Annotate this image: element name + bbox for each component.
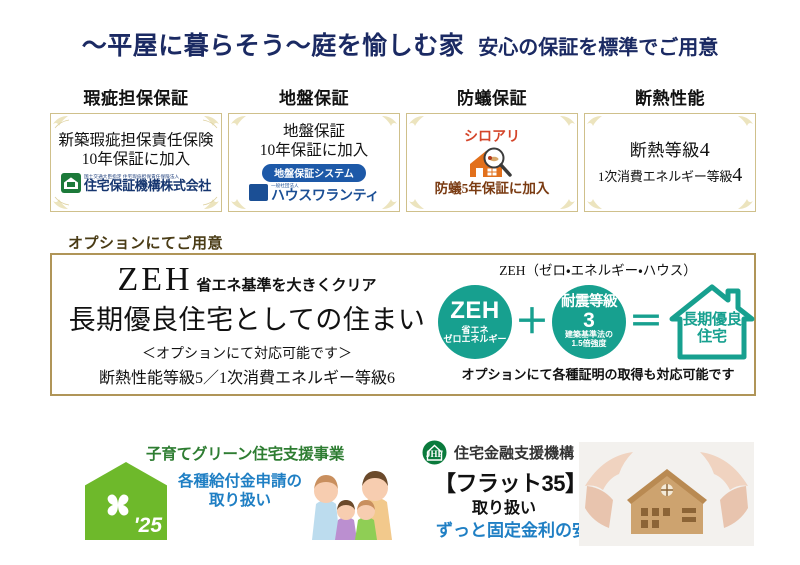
warranty-line-1: 新築瑕疵担保責任保険 <box>58 132 213 151</box>
primary-energy-label: 1次消費エネルギー等級 <box>598 169 732 184</box>
flat35-block: JHF 住宅金融支援機構 【フラット35】 取り扱い ずっと固定金利の安心 <box>418 436 758 548</box>
flat35-sub1: 取り扱い <box>472 494 536 518</box>
zeh-equation: ZEH 省エネ ゼロエネルギー ＋ 耐震等級 3 建築基準法の 1.5倍強度 ＝… <box>442 281 754 363</box>
ornament-corner-icon <box>376 192 398 210</box>
logo-name: 住宅保証機構株式会社 <box>84 179 211 192</box>
equation-result-house: 長期優良 住宅 <box>666 281 758 363</box>
jhf-logo-icon: JHF <box>422 440 447 465</box>
warranty-heading: 瑕疵担保保証 <box>84 84 189 109</box>
zeh-circle-sub2: ゼロエネルギー <box>443 335 506 345</box>
clover-icon <box>101 488 135 522</box>
ornament-corner-icon <box>408 192 430 210</box>
ornament-corner-icon <box>586 192 608 210</box>
seismic-sub2: 1.5倍強度 <box>571 340 606 349</box>
title-main: 〜平屋に暮らそう〜庭を愉しむ家 <box>82 33 465 60</box>
zeh-grade-line: 断熱性能等級5／1次消費エネルギー等級6 <box>62 364 432 388</box>
equation-seismic-circle: 耐震等級 3 建築基準法の 1.5倍強度 <box>552 285 626 359</box>
green-sub-line1: 各種給付金申請の <box>178 472 302 491</box>
house-shield-icon <box>61 173 81 193</box>
ornament-corner-icon <box>52 192 74 210</box>
ornament-corner-icon <box>554 115 576 133</box>
ornament-corner-icon <box>198 192 220 210</box>
insulation-grade-value: 4 <box>700 139 711 161</box>
warranty-card-termite: 防蟻保証 シロアリ 防蟻5年保証に加入 <box>406 84 578 212</box>
zeh-wordmark: ZEH <box>117 261 192 299</box>
ground-warranty-system-pill: 地盤保証システム <box>262 164 366 182</box>
warranty-cards-row: 瑕疵担保保証 新築瑕疵担保責任保険 10年保証に加入 国土交通大臣指定 住宅瑕疵… <box>50 84 756 212</box>
seismic-grade-number: 3 <box>583 310 595 331</box>
warranty-heading: 断熱性能 <box>635 84 705 109</box>
warranty-line-1: 地盤保証 <box>283 123 345 142</box>
equation-zeh-circle: ZEH 省エネ ゼロエネルギー <box>438 285 512 359</box>
zeh-left-block: ZEH 省エネ基準を大きくクリア 長期優良住宅としての住まい ＜オプションにて対… <box>62 261 432 388</box>
option-label: オプションにてご用意 <box>68 232 223 253</box>
green-sub-line2: 取り扱い <box>178 491 302 510</box>
green-house-badge-icon: '25 <box>85 462 167 540</box>
seal-icon <box>249 184 268 201</box>
warranty-card-insulation: 断熱性能 断熱等級4 1次消費エネルギー等級4 <box>584 84 756 212</box>
warranty-heading: 地盤保証 <box>279 84 349 109</box>
warranty-line-2: 10年保証に加入 <box>82 151 191 170</box>
hands-protecting-house-icon <box>579 442 754 546</box>
ornament-corner-icon <box>230 115 252 133</box>
bottom-section: 子育てグリーン住宅支援事業 '25 各種給付金申請の 取り扱い <box>0 432 800 552</box>
warranty-line-1: シロアリ <box>464 128 520 145</box>
page-title: 〜平屋に暮らそう〜庭を愉しむ家 安心の保証を標準でご用意 <box>0 26 800 62</box>
ornament-corner-icon <box>52 115 74 133</box>
plus-operator-icon: ＋ <box>514 305 550 339</box>
svg-text:JHF: JHF <box>426 449 444 459</box>
logo-name: ハウスワランティ <box>271 188 379 202</box>
warranty-card-ground: 地盤保証 地盤保証 10年保証に加入 地盤保証システム 一般社団法人 ハウスワラ… <box>228 84 400 212</box>
equals-operator-icon: ＝ <box>628 305 664 339</box>
zeh-panel: ZEH 省エネ基準を大きくクリア 長期優良住宅としての住まい ＜オプションにて対… <box>50 253 756 396</box>
seismic-title: 耐震等級 <box>561 295 617 310</box>
result-house-line2: 住宅 <box>666 328 758 345</box>
zeh-equation-note: オプションにて各種証明の取得も対応可能です <box>442 364 754 383</box>
zeh-right-block: ZEH（ゼロ・エネルギー・ハウス） ZEH 省エネ ゼロエネルギー ＋ 耐震等級… <box>442 259 754 383</box>
ornament-corner-icon <box>732 115 754 133</box>
warranty-box: シロアリ 防蟻5年保証に加入 <box>406 113 578 212</box>
warranty-line-2: 10年保証に加入 <box>260 142 369 161</box>
year-badge: '25 <box>134 514 162 538</box>
zeh-caption: ZEH（ゼロ・エネルギー・ハウス） <box>442 259 754 279</box>
jhf-org-name: 住宅金融支援機構 <box>454 442 574 463</box>
warranty-box: 新築瑕疵担保責任保険 10年保証に加入 国土交通大臣指定 住宅瑕疵担保責任保険法… <box>50 113 222 212</box>
ornament-corner-icon <box>732 192 754 210</box>
warranty-box: 断熱等級4 1次消費エネルギー等級4 <box>584 113 756 212</box>
house-magnifier-termite-icon <box>464 146 520 180</box>
zeh-circle-main: ZEH <box>450 299 500 323</box>
result-house-line1: 長期優良 <box>666 311 758 328</box>
zeh-main-headline: 長期優良住宅としての住まい <box>62 298 432 337</box>
warranty-box: 地盤保証 10年保証に加入 地盤保証システム 一般社団法人 ハウスワランティ <box>228 113 400 212</box>
green-housing-subsidy-block: 子育てグリーン住宅支援事業 '25 各種給付金申請の 取り扱い <box>80 436 410 548</box>
jhf-org-row: JHF 住宅金融支援機構 <box>422 440 574 465</box>
primary-energy-value: 4 <box>732 164 742 186</box>
family-illustration-icon <box>302 458 410 544</box>
ornament-corner-icon <box>376 115 398 133</box>
insulation-grade-label: 断熱等級 <box>630 141 700 160</box>
ornament-corner-icon <box>408 115 430 133</box>
title-sub: 安心の保証を標準でご用意 <box>478 37 718 59</box>
warranty-line-2: 防蟻5年保証に加入 <box>435 181 550 197</box>
warranty-card-defect: 瑕疵担保保証 新築瑕疵担保責任保険 10年保証に加入 国土交通大臣指定 住宅瑕疵… <box>50 84 222 212</box>
zeh-option-note: ＜オプションにて対応可能です＞ <box>62 343 432 363</box>
zeh-tagline: 省エネ基準を大きくクリア <box>197 274 377 295</box>
ornament-corner-icon <box>554 192 576 210</box>
warranty-heading: 防蟻保証 <box>457 84 527 109</box>
jbn-logo: 国土交通大臣指定 住宅瑕疵担保責任保険法人 住宅保証機構株式会社 <box>61 173 211 193</box>
green-subsidy-subtext: 各種給付金申請の 取り扱い <box>178 472 302 511</box>
hauswarranty-logo: 一般社団法人 ハウスワランティ <box>249 184 379 203</box>
ornament-corner-icon <box>586 115 608 133</box>
ornament-corner-icon <box>198 115 220 133</box>
